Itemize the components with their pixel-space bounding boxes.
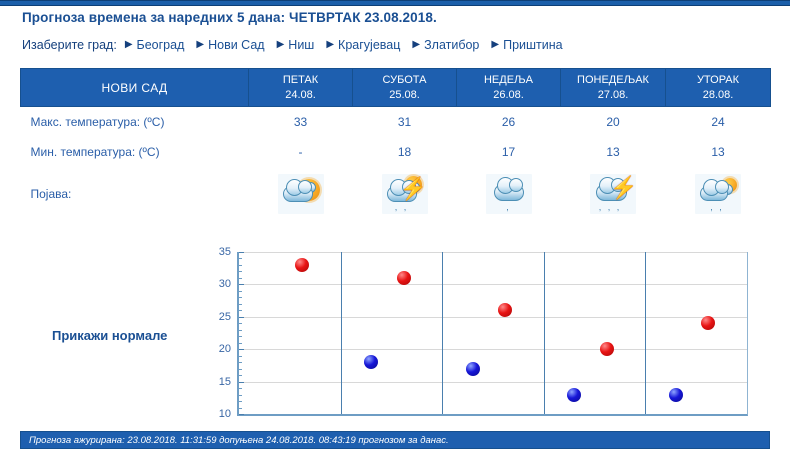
footer-status-text: Прогноза ажурирана: 23.08.2018. 11:31:59… bbox=[21, 435, 449, 446]
chart-panel-separator bbox=[442, 252, 443, 414]
y-axis-minor-tick bbox=[239, 278, 242, 279]
max-temp-cell: 20 bbox=[561, 107, 666, 137]
city-link-label: Ниш bbox=[288, 38, 314, 52]
y-axis-minor-tick bbox=[239, 297, 242, 298]
forecast-table: НОВИ САД ПЕТАК 24.08. СУБОТА 25.08. НЕДЕ… bbox=[20, 68, 771, 221]
chart-panel-separator bbox=[544, 252, 545, 414]
city-link-zlatibor[interactable]: ▶ Златибор bbox=[412, 38, 479, 52]
y-axis-minor-tick bbox=[239, 388, 242, 389]
chart-point-min bbox=[567, 388, 581, 402]
day-date: 28.08. bbox=[667, 88, 769, 103]
city-link-label: Крагујевац bbox=[338, 38, 400, 52]
arrow-right-icon: ▶ bbox=[196, 40, 204, 50]
y-axis-minor-tick bbox=[239, 401, 242, 402]
min-temp-cell: 17 bbox=[457, 137, 561, 167]
day-header-cell: НЕДЕЉА 26.08. bbox=[457, 69, 561, 107]
y-axis-tick-mark bbox=[239, 414, 244, 415]
city-link-label: Приштина bbox=[503, 38, 563, 52]
arrow-right-icon: ▶ bbox=[412, 40, 420, 50]
chart-point-max bbox=[295, 258, 309, 272]
chart-gridline bbox=[239, 382, 747, 383]
chart-plot-area: 101520253035 bbox=[237, 252, 748, 416]
chart-gridline bbox=[239, 317, 747, 318]
show-normals-button[interactable]: Прикажи нормале bbox=[52, 328, 167, 343]
forecast-table-wrap: НОВИ САД ПЕТАК 24.08. СУБОТА 25.08. НЕДЕ… bbox=[20, 68, 770, 221]
chart-gridline bbox=[239, 284, 747, 285]
phenomenon-cell: ⚡ , , , bbox=[561, 167, 666, 221]
table-row-max-temperature: Макс. температура: (ºC) 33 31 26 20 24 bbox=[21, 107, 771, 137]
day-header-cell: ПЕТАК 24.08. bbox=[249, 69, 353, 107]
y-axis-tick-label: 20 bbox=[219, 343, 231, 355]
day-name: УТОРАК bbox=[667, 73, 769, 88]
chart-gridline bbox=[239, 349, 747, 350]
day-name: ПОНЕДЕЉАК bbox=[562, 73, 664, 88]
weather-forecast-page: Прогноза времена за наредних 5 дана: ЧЕТ… bbox=[0, 0, 790, 452]
arrow-right-icon: ▶ bbox=[326, 40, 334, 50]
city-selector-bar: Изаберите град: ▶ Београд ▶ Нови Сад ▶ Н… bbox=[22, 38, 575, 52]
max-temp-cell: 26 bbox=[457, 107, 561, 137]
chart-point-min bbox=[669, 388, 683, 402]
chart-gridline bbox=[239, 252, 747, 253]
city-link-nis[interactable]: ▶ Ниш bbox=[277, 38, 315, 52]
day-name: СУБОТА bbox=[354, 73, 455, 88]
chart-point-max bbox=[701, 316, 715, 330]
day-name: ПЕТАК bbox=[250, 73, 351, 88]
city-header-cell: НОВИ САД bbox=[21, 69, 249, 107]
temperature-chart: Прикажи нормале 101520253035 bbox=[0, 236, 790, 426]
y-axis-tick-mark bbox=[239, 284, 244, 285]
y-axis-minor-tick bbox=[239, 323, 242, 324]
table-header-row: НОВИ САД ПЕТАК 24.08. СУБОТА 25.08. НЕДЕ… bbox=[21, 69, 771, 107]
page-title: Прогноза времена за наредних 5 дана: ЧЕТ… bbox=[22, 10, 437, 25]
row-label: Макс. температура: (ºC) bbox=[21, 107, 249, 137]
min-temp-cell: 13 bbox=[561, 137, 666, 167]
day-date: 27.08. bbox=[562, 88, 664, 103]
day-date: 24.08. bbox=[250, 88, 351, 103]
arrow-right-icon: ▶ bbox=[491, 40, 499, 50]
y-axis-minor-tick bbox=[239, 304, 242, 305]
city-link-label: Нови Сад bbox=[208, 38, 265, 52]
city-link-novi-sad[interactable]: ▶ Нови Сад bbox=[196, 38, 264, 52]
y-axis-minor-tick bbox=[239, 375, 242, 376]
y-axis-tick-mark bbox=[239, 382, 244, 383]
y-axis-tick-label: 30 bbox=[219, 278, 231, 290]
table-row-min-temperature: Мин. температура: (ºC) - 18 17 13 13 bbox=[21, 137, 771, 167]
cloud-light-rain-icon: , bbox=[486, 174, 532, 214]
y-axis-minor-tick bbox=[239, 395, 242, 396]
y-axis-tick-label: 35 bbox=[219, 246, 231, 258]
y-axis-minor-tick bbox=[239, 336, 242, 337]
y-axis-tick-label: 25 bbox=[219, 311, 231, 323]
y-axis-tick-mark bbox=[239, 349, 244, 350]
max-temp-cell: 24 bbox=[666, 107, 771, 137]
phenomenon-cell: , , bbox=[666, 167, 771, 221]
sun-behind-cloud-icon bbox=[278, 174, 324, 214]
y-axis-minor-tick bbox=[239, 408, 242, 409]
y-axis-minor-tick bbox=[239, 369, 242, 370]
day-name: НЕДЕЉА bbox=[458, 73, 559, 88]
chart-point-min bbox=[364, 355, 378, 369]
y-axis-minor-tick bbox=[239, 356, 242, 357]
day-date: 25.08. bbox=[354, 88, 455, 103]
max-temp-cell: 31 bbox=[353, 107, 457, 137]
chart-point-max bbox=[397, 271, 411, 285]
city-link-pristina[interactable]: ▶ Приштина bbox=[491, 38, 562, 52]
thunderstorm-with-sun-icon: ⚡ , , bbox=[382, 174, 428, 214]
y-axis-minor-tick bbox=[239, 291, 242, 292]
chart-panel-separator bbox=[341, 252, 342, 414]
y-axis-tick-label: 10 bbox=[219, 408, 231, 420]
chart-point-min bbox=[466, 362, 480, 376]
phenomenon-cell bbox=[249, 167, 353, 221]
y-axis-minor-tick bbox=[239, 343, 242, 344]
sun-cloud-light-rain-icon: , , bbox=[695, 174, 741, 214]
min-temp-cell: 18 bbox=[353, 137, 457, 167]
phenomenon-cell: , bbox=[457, 167, 561, 221]
phenomenon-cell: ⚡ , , bbox=[353, 167, 457, 221]
footer-status-bar: Прогноза ажурирана: 23.08.2018. 11:31:59… bbox=[20, 431, 770, 449]
city-link-label: Београд bbox=[137, 38, 185, 52]
y-axis-tick-label: 15 bbox=[219, 376, 231, 388]
max-temp-cell: 33 bbox=[249, 107, 353, 137]
city-link-label: Златибор bbox=[424, 38, 479, 52]
arrow-right-icon: ▶ bbox=[125, 40, 133, 50]
thunderstorm-rain-icon: ⚡ , , , bbox=[590, 174, 636, 214]
city-link-kragujevac[interactable]: ▶ Крагујевац bbox=[326, 38, 400, 52]
top-accent-strip bbox=[0, 0, 790, 6]
city-link-beograd[interactable]: ▶ Београд bbox=[125, 38, 185, 52]
min-temp-cell: 13 bbox=[666, 137, 771, 167]
chart-point-max bbox=[600, 342, 614, 356]
y-axis-minor-tick bbox=[239, 258, 242, 259]
choose-city-label: Изаберите град: bbox=[22, 38, 117, 52]
chart-panel-separator bbox=[645, 252, 646, 414]
arrow-right-icon: ▶ bbox=[277, 40, 285, 50]
day-date: 26.08. bbox=[458, 88, 559, 103]
table-row-phenomenon: Појава: ⚡ bbox=[21, 167, 771, 221]
y-axis-minor-tick bbox=[239, 310, 242, 311]
y-axis-minor-tick bbox=[239, 271, 242, 272]
day-header-cell: УТОРАК 28.08. bbox=[666, 69, 771, 107]
y-axis-minor-tick bbox=[239, 265, 242, 266]
row-label: Мин. температура: (ºC) bbox=[21, 137, 249, 167]
y-axis-minor-tick bbox=[239, 330, 242, 331]
day-header-cell: ПОНЕДЕЉАК 27.08. bbox=[561, 69, 666, 107]
chart-point-max bbox=[498, 303, 512, 317]
row-label: Појава: bbox=[21, 167, 249, 221]
y-axis-tick-mark bbox=[239, 317, 244, 318]
min-temp-cell: - bbox=[249, 137, 353, 167]
y-axis-minor-tick bbox=[239, 362, 242, 363]
day-header-cell: СУБОТА 25.08. bbox=[353, 69, 457, 107]
y-axis-tick-mark bbox=[239, 252, 244, 253]
